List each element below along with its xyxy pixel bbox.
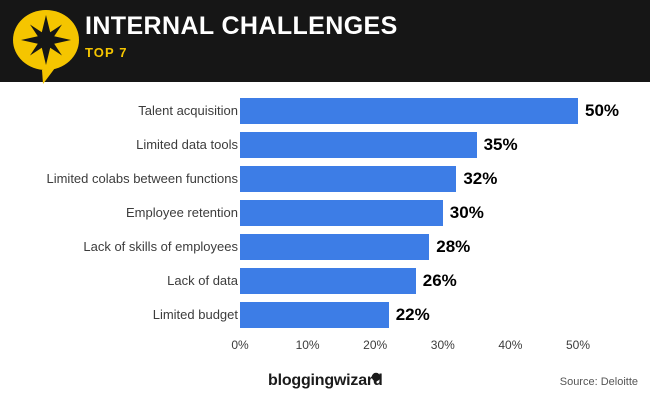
bar-value-label: 50% [585, 98, 619, 124]
category-label: Limited budget [153, 302, 238, 328]
chart-header: INTERNAL CHALLENGES TOP 7 [0, 0, 650, 82]
brand-wordmark: bloggingwizard [268, 372, 383, 390]
category-label: Limited data tools [136, 132, 238, 158]
bar-row: Employee retention30% [0, 200, 650, 226]
bar-value-label: 35% [484, 132, 518, 158]
x-axis-tick: 20% [363, 338, 387, 352]
category-label: Talent acquisition [138, 98, 238, 124]
bar [240, 132, 477, 158]
category-label: Limited colabs between functions [46, 166, 238, 192]
bar [240, 200, 443, 226]
bar-row: Lack of data26% [0, 268, 650, 294]
bar-rows: Talent acquisition50%Limited data tools3… [0, 98, 650, 336]
bar-value-label: 28% [436, 234, 470, 260]
bar-value-label: 26% [423, 268, 457, 294]
bar-value-label: 22% [396, 302, 430, 328]
x-axis-tick: 0% [231, 338, 248, 352]
page-title: INTERNAL CHALLENGES [85, 13, 398, 39]
bar-row: Limited budget22% [0, 302, 650, 328]
bar [240, 268, 416, 294]
bar-row: Talent acquisition50% [0, 98, 650, 124]
bar-row: Lack of skills of employees28% [0, 234, 650, 260]
bar-value-label: 32% [463, 166, 497, 192]
bar [240, 234, 429, 260]
category-label: Lack of data [167, 268, 238, 294]
chart-footer: bloggingwizard Source: Deloitte [0, 372, 650, 400]
x-axis-tick: 50% [566, 338, 590, 352]
bar [240, 98, 578, 124]
x-axis-tick: 10% [296, 338, 320, 352]
bar-row: Limited data tools35% [0, 132, 650, 158]
category-label: Employee retention [126, 200, 238, 226]
source-note: Source: Deloitte [560, 376, 638, 388]
balloon-dot-icon [370, 372, 382, 386]
bar-row: Limited colabs between functions32% [0, 166, 650, 192]
bar-value-label: 30% [450, 200, 484, 226]
x-axis: 0%10%20%30%40%50% [0, 338, 650, 358]
page-subtitle: TOP 7 [85, 45, 398, 60]
chart-plot-area: Talent acquisition50%Limited data tools3… [0, 82, 650, 400]
bar [240, 302, 389, 328]
bar [240, 166, 456, 192]
x-axis-tick: 40% [498, 338, 522, 352]
title-block: INTERNAL CHALLENGES TOP 7 [85, 13, 398, 60]
x-axis-tick: 30% [431, 338, 455, 352]
category-label: Lack of skills of employees [83, 234, 238, 260]
speech-bubble-star-icon [12, 6, 84, 84]
